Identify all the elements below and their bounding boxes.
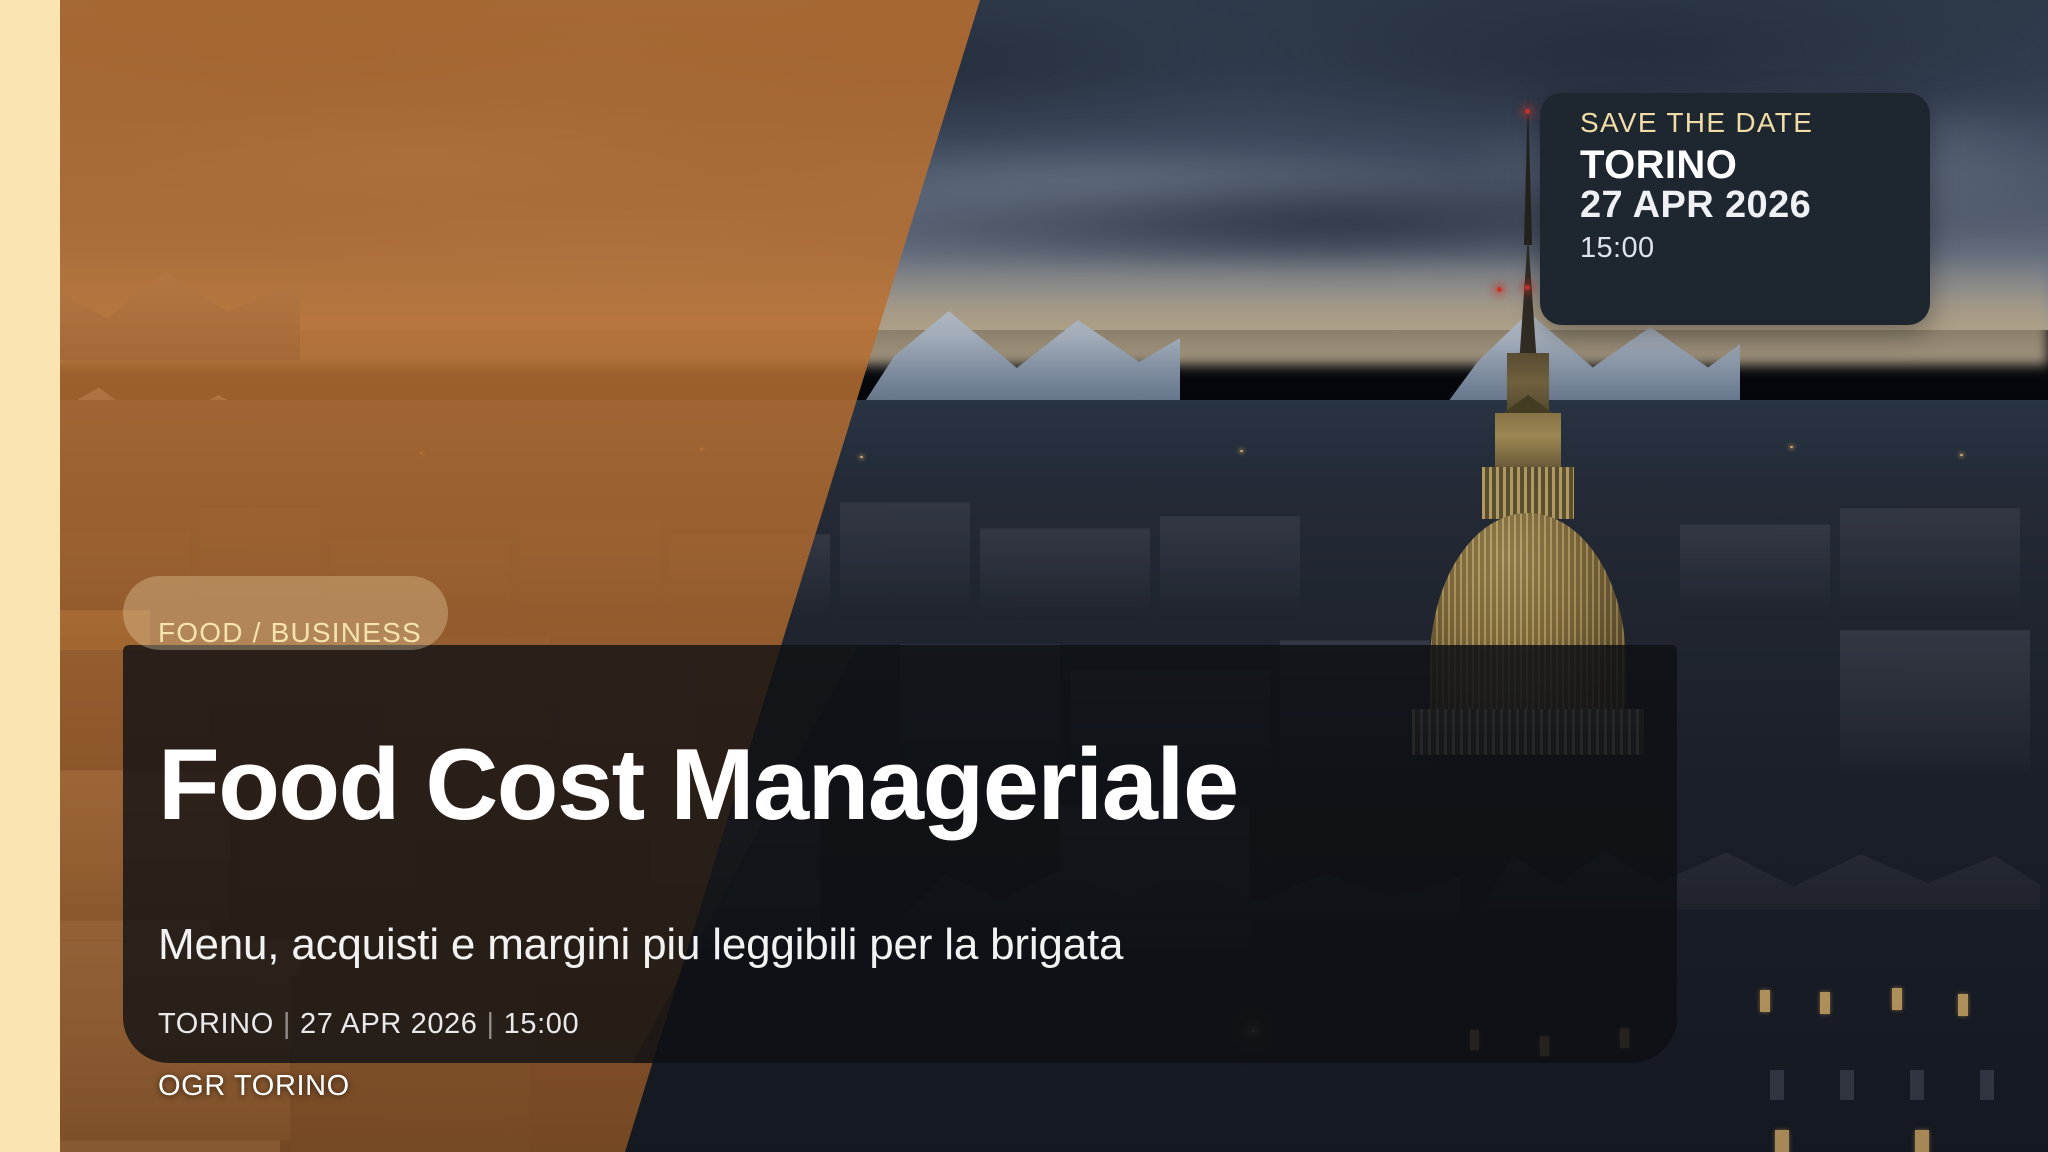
poster-canvas: FOOD / BUSINESS Food Cost Manageriale Me… bbox=[0, 0, 2048, 1152]
save-the-date-time: 15:00 bbox=[1580, 232, 1655, 265]
brand-accent-strip bbox=[0, 0, 60, 1152]
event-meta: TORINO|27 APR 2026|15:00 bbox=[158, 1008, 579, 1041]
page-subtitle: Menu, acquisti e margini piu leggibili p… bbox=[158, 920, 1123, 970]
event-venue: OGR TORINO bbox=[158, 1070, 350, 1103]
category-badge-label: FOOD / BUSINESS bbox=[158, 617, 422, 649]
save-the-date-date: 27 APR 2026 bbox=[1580, 184, 1811, 227]
save-the-date-kicker: SAVE THE DATE bbox=[1580, 107, 1813, 139]
meta-time: 15:00 bbox=[504, 1008, 580, 1040]
save-the-date-city: TORINO bbox=[1580, 143, 1737, 188]
meta-date: 27 APR 2026 bbox=[300, 1008, 478, 1040]
meta-separator-1: | bbox=[274, 1008, 300, 1040]
page-title: Food Cost Manageriale bbox=[158, 735, 1238, 836]
meta-separator-2: | bbox=[478, 1008, 504, 1040]
content-scrim-tint bbox=[123, 645, 1677, 1063]
meta-city: TORINO bbox=[158, 1008, 274, 1040]
